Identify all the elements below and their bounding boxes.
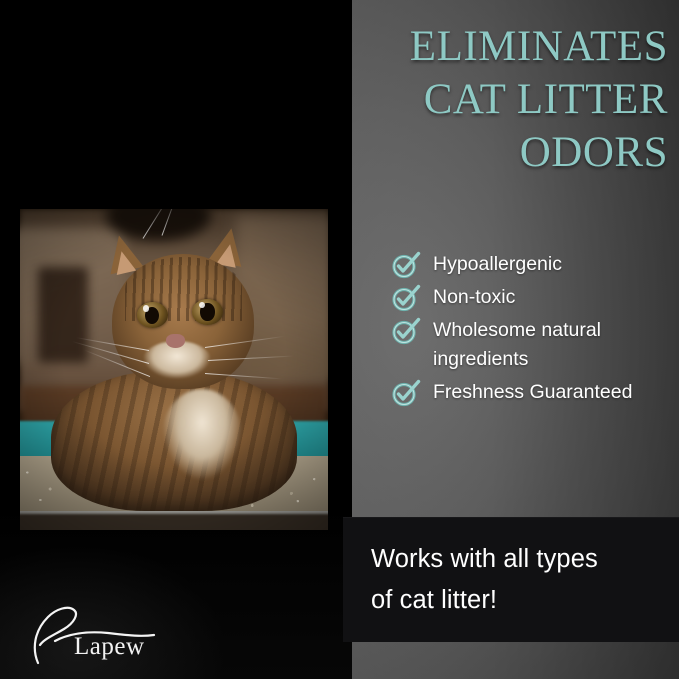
feature-label: Freshness Guaranteed <box>433 378 632 407</box>
logo-wordmark: Lapew <box>74 633 145 661</box>
feature-item-freshness-guaranteed: Freshness Guaranteed <box>391 378 679 407</box>
page-title: ELIMINATES CAT LITTER ODORS <box>300 20 668 179</box>
headline-line-2: CAT LITTER <box>300 73 668 126</box>
headline-line-1: ELIMINATES <box>300 20 668 73</box>
feature-label: Wholesome natural ingredients <box>433 316 667 374</box>
feature-item-hypoallergenic: Hypoallergenic <box>391 250 679 279</box>
callout-box: Works with all types of cat litter! <box>343 517 679 642</box>
check-circle-icon <box>391 284 421 312</box>
feature-list: Hypoallergenic Non-toxic Wholesome n <box>391 250 679 411</box>
advertisement-canvas: ELIMINATES CAT LITTER ODORS <box>0 0 679 679</box>
product-hero-photo <box>20 209 328 530</box>
check-circle-icon <box>391 251 421 279</box>
callout-line-1: Works with all types <box>371 539 598 580</box>
callout-line-2: of cat litter! <box>371 580 598 621</box>
feature-item-wholesome-natural-ingredients: Wholesome natural ingredients <box>391 316 679 374</box>
feature-label: Non-toxic <box>433 283 515 312</box>
brand-logo: Lapew <box>22 601 202 667</box>
headline-line-3: ODORS <box>300 126 668 179</box>
check-circle-icon <box>391 317 421 345</box>
photo-vignette <box>20 209 328 530</box>
check-circle-icon <box>391 379 421 407</box>
photo-inner <box>20 209 328 530</box>
feature-item-non-toxic: Non-toxic <box>391 283 679 312</box>
callout-text: Works with all types of cat litter! <box>343 539 608 621</box>
feature-label: Hypoallergenic <box>433 250 562 279</box>
